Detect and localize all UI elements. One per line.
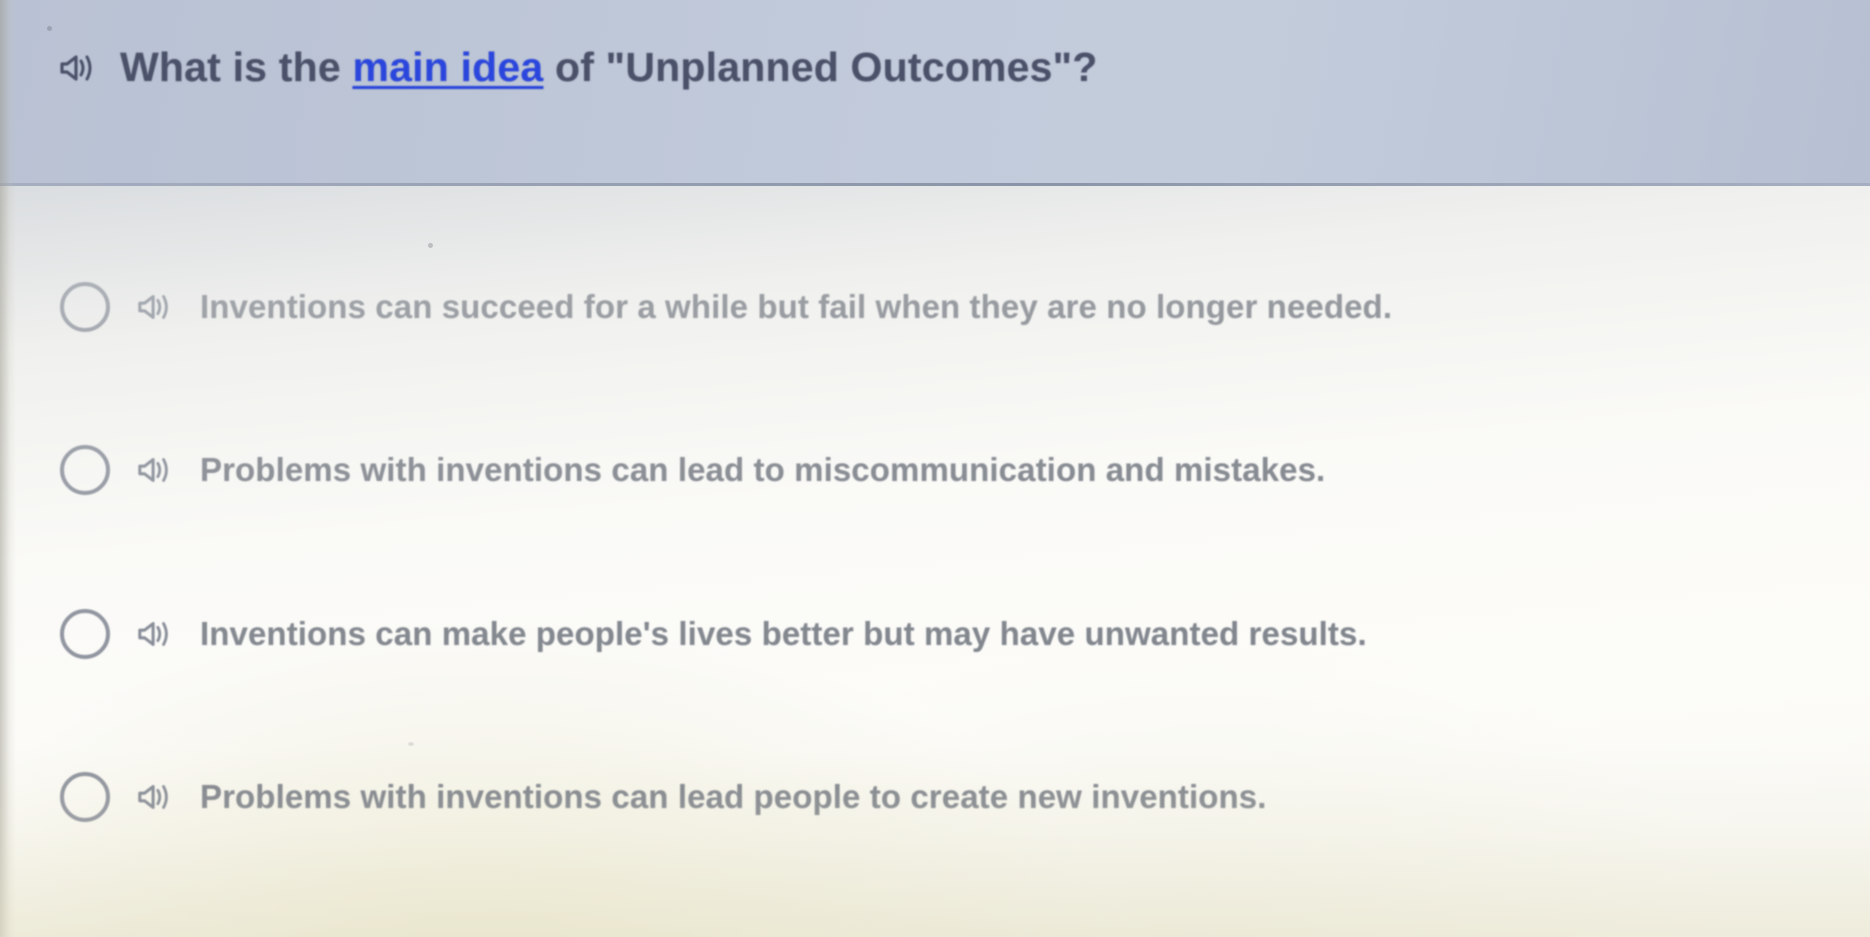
answer-option-4[interactable]: Problems with inventions can lead people… bbox=[60, 766, 1267, 828]
radio-button-2[interactable] bbox=[60, 445, 110, 495]
question-row: What is the main idea of "Unplanned Outc… bbox=[58, 44, 1098, 91]
radio-button-3[interactable] bbox=[60, 609, 110, 659]
dust-speck bbox=[428, 243, 433, 248]
content-layer: What is the main idea of "Unplanned Outc… bbox=[0, 0, 1870, 937]
speaker-icon[interactable] bbox=[58, 48, 98, 88]
question-suffix: of "Unplanned Outcomes"? bbox=[543, 44, 1097, 90]
question-prefix: What is the bbox=[120, 44, 352, 90]
quiz-screen: What is the main idea of "Unplanned Outc… bbox=[0, 0, 1870, 937]
answer-option-2[interactable]: Problems with inventions can lead to mis… bbox=[60, 439, 1325, 501]
answer-option-3[interactable]: Inventions can make people's lives bette… bbox=[60, 603, 1367, 665]
answer-option-label: Inventions can succeed for a while but f… bbox=[200, 288, 1392, 326]
dust-speck bbox=[408, 742, 414, 746]
radio-button-4[interactable] bbox=[60, 772, 110, 822]
dust-speck bbox=[47, 26, 52, 31]
speaker-icon[interactable] bbox=[136, 288, 174, 326]
answer-option-label: Problems with inventions can lead to mis… bbox=[200, 451, 1325, 489]
answer-option-label: Inventions can make people's lives bette… bbox=[200, 615, 1367, 653]
radio-button-1[interactable] bbox=[60, 282, 110, 332]
speaker-icon[interactable] bbox=[136, 451, 174, 489]
answer-option-label: Problems with inventions can lead people… bbox=[200, 778, 1267, 816]
question-text: What is the main idea of "Unplanned Outc… bbox=[120, 44, 1098, 91]
question-link-main-idea[interactable]: main idea bbox=[352, 44, 543, 90]
speaker-icon[interactable] bbox=[136, 778, 174, 816]
speaker-icon[interactable] bbox=[136, 615, 174, 653]
answer-option-1[interactable]: Inventions can succeed for a while but f… bbox=[60, 276, 1392, 338]
